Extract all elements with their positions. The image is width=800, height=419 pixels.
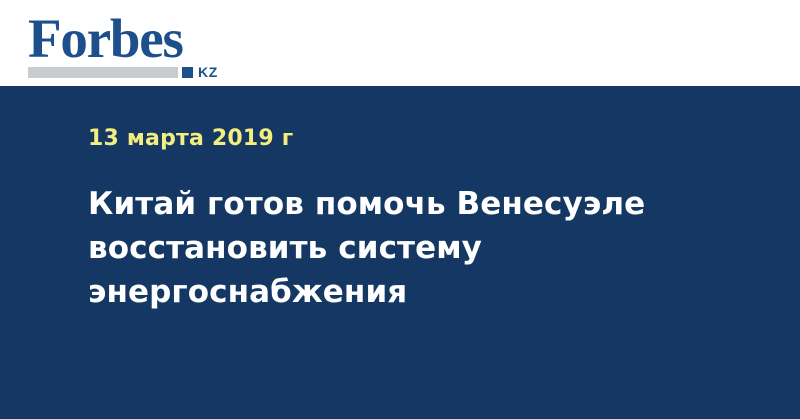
article-date: 13 марта 2019 г bbox=[88, 126, 294, 152]
headline-line: энергоснабжения bbox=[88, 270, 688, 314]
logo-kz-suffix: KZ bbox=[198, 65, 218, 80]
article-headline: Китай готов помочь Венесуэле восстановит… bbox=[88, 182, 688, 314]
logo-underbar bbox=[28, 67, 178, 78]
site-header: Forbes KZ bbox=[0, 0, 800, 86]
hero-panel: 13 марта 2019 г Китай готов помочь Венес… bbox=[0, 86, 800, 419]
headline-line: Китай готов помочь Венесуэле bbox=[88, 182, 688, 226]
forbes-kz-logo[interactable]: Forbes KZ bbox=[28, 10, 238, 80]
headline-line: восстановить систему bbox=[88, 226, 688, 270]
article-share-card: Forbes KZ 13 марта 2019 г Китай готов по… bbox=[0, 0, 800, 419]
logo-square-icon bbox=[182, 67, 193, 78]
forbes-wordmark: Forbes bbox=[28, 10, 183, 68]
